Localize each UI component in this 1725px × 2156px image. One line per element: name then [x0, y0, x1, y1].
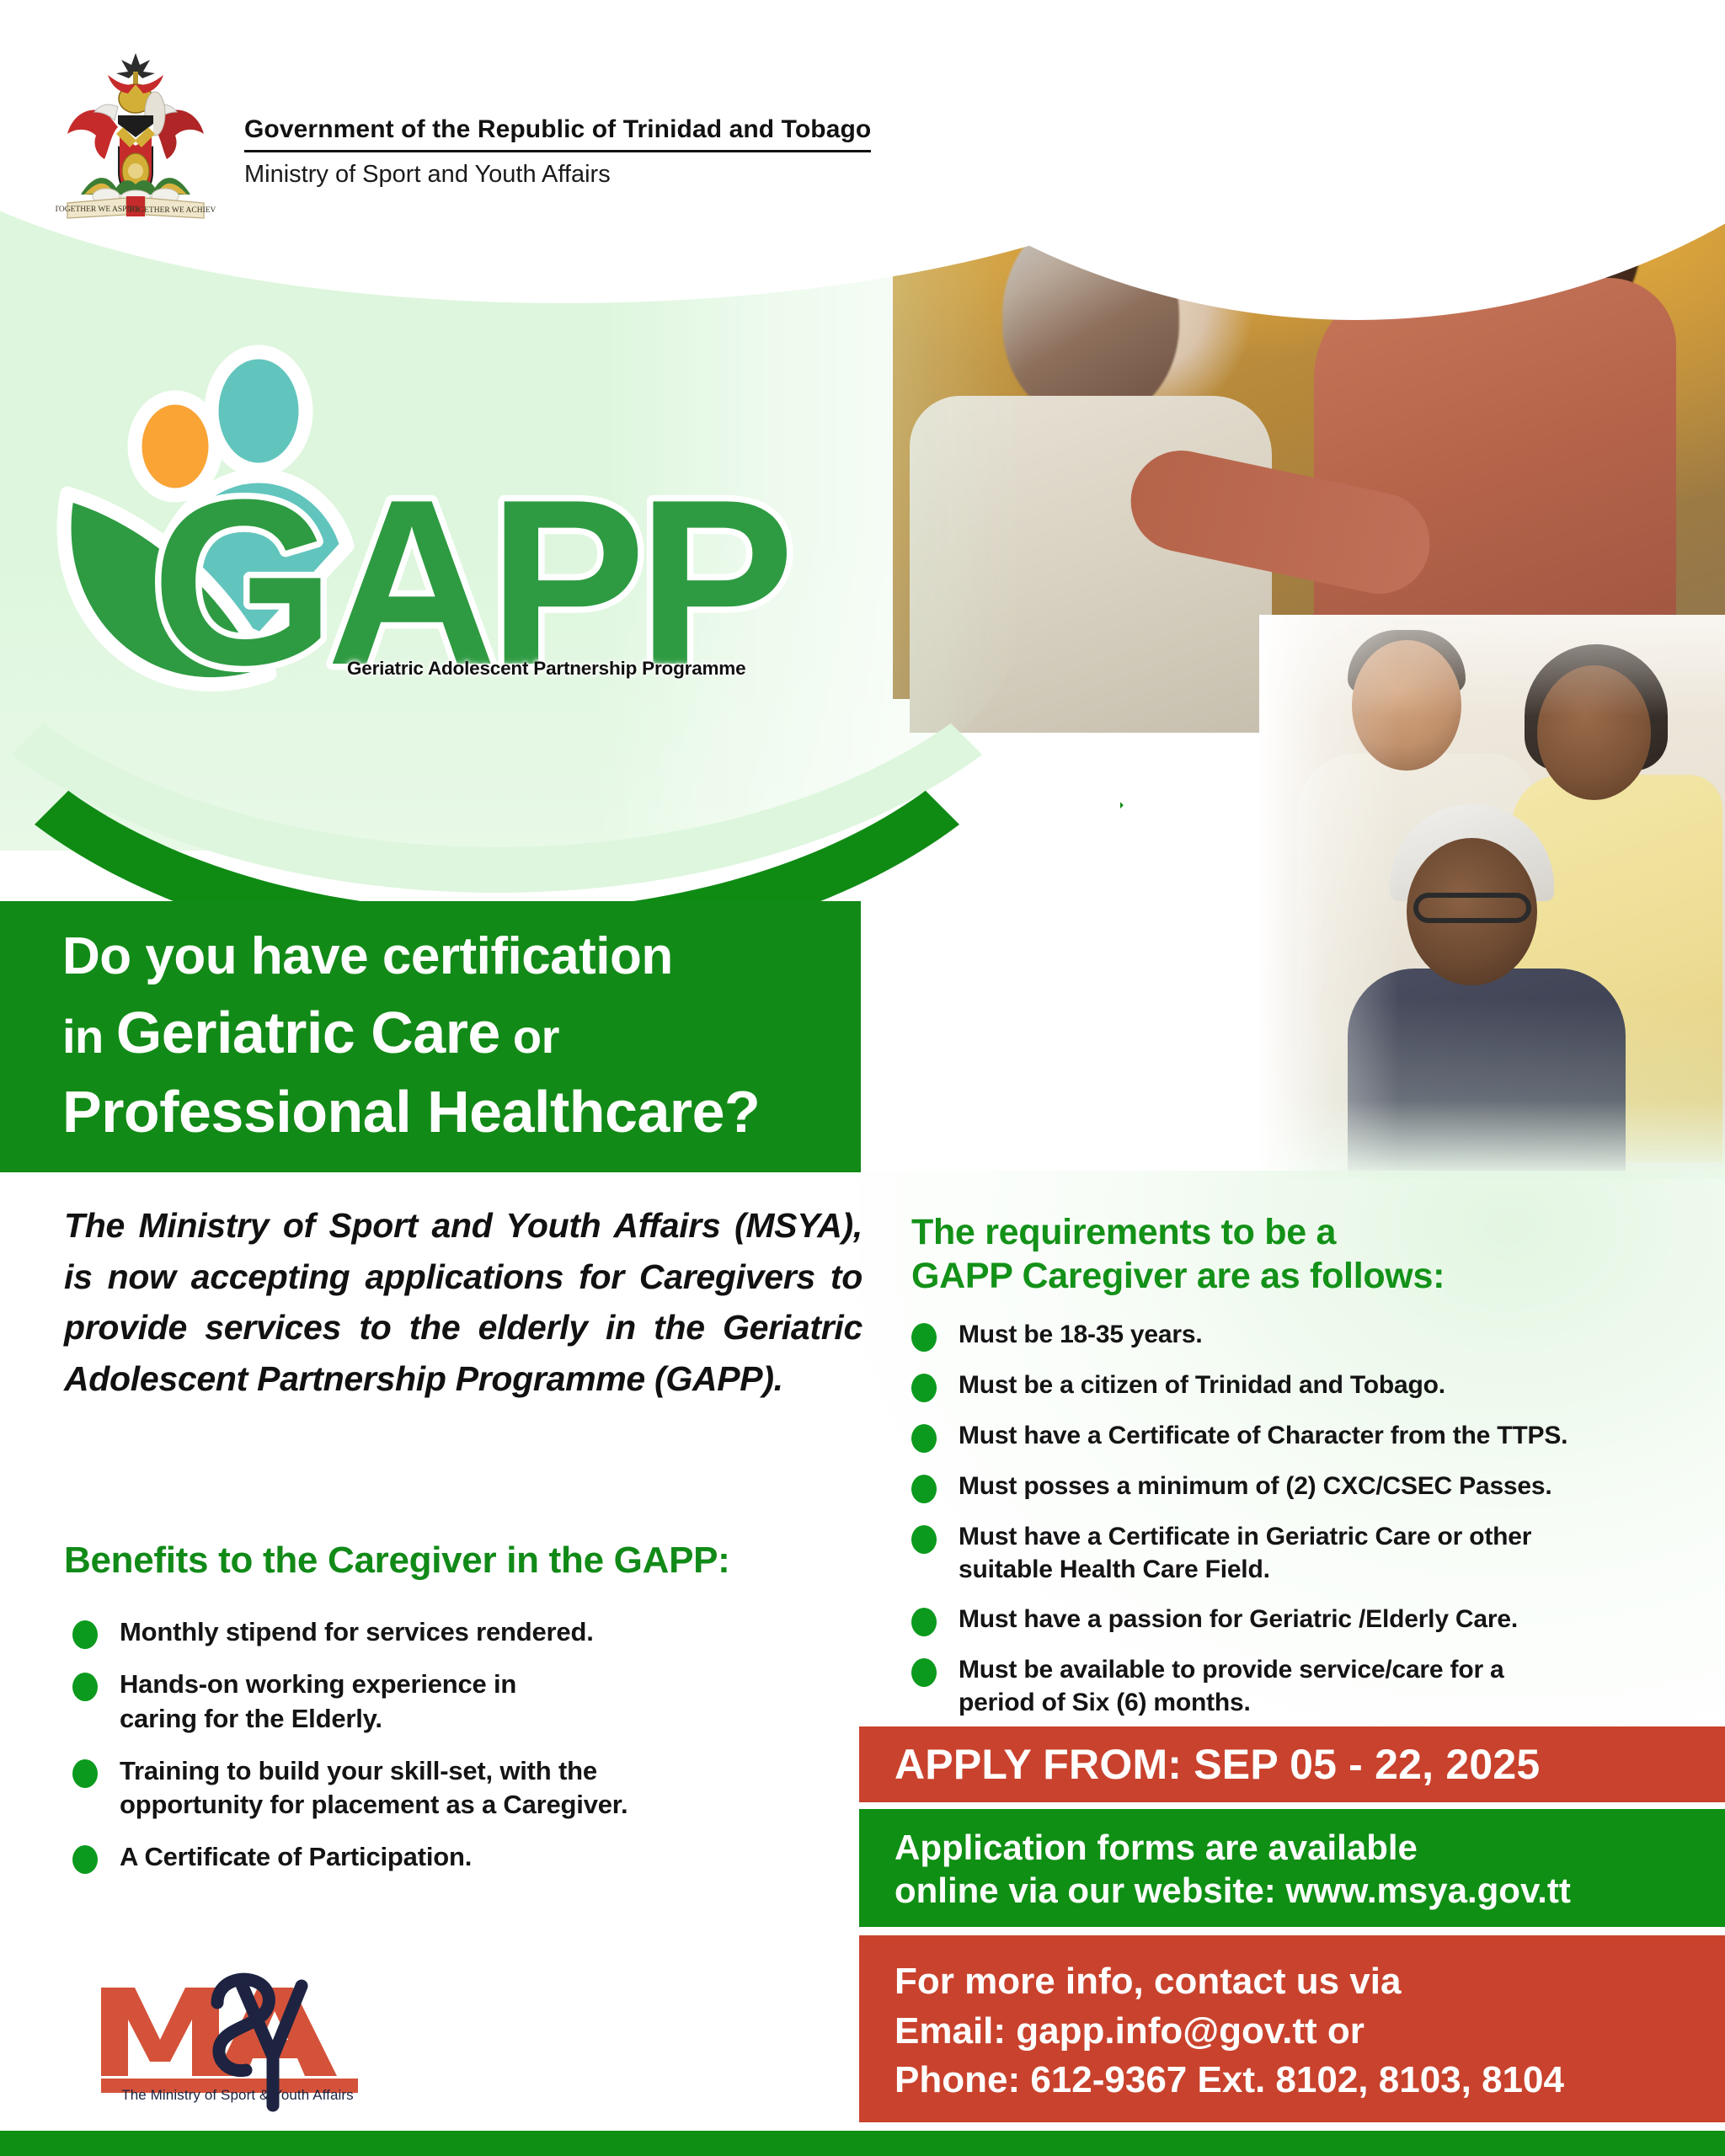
gapp-logo: GAPP Geriatric Adolescent Partnership Pr… [51, 337, 834, 707]
contact-banner: For more info, contact us via Email: gap… [859, 1935, 1725, 2122]
msya-caption: The Ministry of Sport & Youth Affairs [94, 2087, 381, 2104]
bullet-dot-icon [72, 1759, 98, 1788]
requirement-text: Must be a citizen of Trinidad and Tobago… [959, 1369, 1445, 1401]
requirement-text: Must have a Certificate in Geriatric Car… [959, 1520, 1531, 1586]
bullet-dot-icon [911, 1374, 937, 1402]
contact-phone-line[interactable]: Phone: 612-9367 Ext. 8102, 8103, 8104 [895, 2056, 1725, 2105]
list-item: Must be a citizen of Trinidad and Tobago… [911, 1369, 1695, 1402]
gapp-tagline: Geriatric Adolescent Partnership Program… [347, 658, 745, 680]
bullet-dot-icon [911, 1323, 937, 1352]
bullet-dot-icon [911, 1608, 937, 1636]
list-item: Must have a Certificate of Character fro… [911, 1419, 1695, 1453]
footer-bar [0, 2131, 1725, 2156]
website-link[interactable]: www.msya.gov.tt [1285, 1870, 1570, 1910]
bullet-dot-icon [911, 1475, 937, 1503]
benefits-list: Monthly stipend for services rendered. H… [72, 1615, 856, 1893]
trinidad-tobago-coat-of-arms-icon: TOGETHER WE ASPIRE TOGETHER WE ACHIEVE [56, 46, 216, 227]
contact-email-line[interactable]: Email: gapp.info@gov.tt or [895, 2007, 1725, 2057]
list-item: Must be 18-35 years. [911, 1318, 1695, 1352]
list-item: Monthly stipend for services rendered. [72, 1615, 856, 1649]
requirement-text: Must have a Certificate of Character fro… [959, 1419, 1567, 1452]
list-item: A Certificate of Participation. [72, 1840, 856, 1874]
benefit-text: Monthly stipend for services rendered. [120, 1615, 594, 1649]
list-item: Must be available to provide service/car… [911, 1653, 1695, 1719]
contact-line-1: For more info, contact us via [895, 1957, 1725, 2007]
headline-line-3: Professional Healthcare? [62, 1081, 815, 1142]
ministry-title: Ministry of Sport and Youth Affairs [244, 161, 871, 189]
headline-emphasis: Geriatric Care [116, 1000, 500, 1065]
requirements-heading: The requirements to be a GAPP Caregiver … [911, 1210, 1669, 1299]
government-title: Government of the Republic of Trinidad a… [244, 115, 871, 152]
list-item: Must have a Certificate in Geriatric Car… [911, 1520, 1695, 1586]
requirements-heading-line-2: GAPP Caregiver are as follows: [911, 1254, 1669, 1298]
headline-suffix: or [500, 1010, 559, 1063]
headline-line-1: Do you have certification [62, 930, 815, 984]
benefit-text: A Certificate of Participation. [120, 1840, 472, 1874]
benefit-text: Training to build your skill-set, with t… [120, 1754, 628, 1822]
forms-line-2: online via our website: www.msya.gov.tt [895, 1869, 1725, 1912]
headline-line-2: in Geriatric Care or [62, 1002, 815, 1063]
requirements-list: Must be 18-35 years. Must be a citizen o… [911, 1318, 1695, 1736]
bullet-dot-icon [72, 1673, 98, 1701]
headline-prefix: in [62, 1010, 116, 1063]
bullet-dot-icon [72, 1620, 98, 1649]
header-text-block: Government of the Republic of Trinidad a… [244, 46, 871, 189]
list-item: Must have a passion for Geriatric /Elder… [911, 1603, 1695, 1636]
bullet-dot-icon [911, 1658, 937, 1687]
requirement-text: Must be 18-35 years. [959, 1318, 1202, 1351]
requirement-text: Must be available to provide service/car… [959, 1653, 1504, 1719]
list-item: Hands-on working experience incaring for… [72, 1668, 856, 1736]
forms-line-1: Application forms are available [895, 1826, 1725, 1869]
requirement-text: Must posses a minimum of (2) CXC/CSEC Pa… [959, 1470, 1552, 1502]
svg-text:TOGETHER WE ACHIEVE: TOGETHER WE ACHIEVE [128, 206, 216, 215]
forms-prefix: online via our website: [895, 1870, 1285, 1910]
bullet-dot-icon [911, 1424, 937, 1453]
headline-banner: Do you have certification in Geriatric C… [0, 901, 861, 1172]
requirements-heading-line-1: The requirements to be a [911, 1210, 1669, 1254]
benefits-heading: Benefits to the Caregiver in the GAPP: [64, 1540, 864, 1582]
document-header: TOGETHER WE ASPIRE TOGETHER WE ACHIEVE G… [56, 46, 871, 227]
requirement-text: Must have a passion for Geriatric /Elder… [959, 1603, 1518, 1636]
apply-period-banner: APPLY FROM: SEP 05 - 22, 2025 [859, 1726, 1725, 1802]
application-forms-banner: Application forms are available online v… [859, 1809, 1725, 1927]
poster-canvas: TOGETHER WE ASPIRE TOGETHER WE ACHIEVE G… [0, 0, 1725, 2156]
bullet-dot-icon [911, 1525, 937, 1554]
list-item: Training to build your skill-set, with t… [72, 1754, 856, 1822]
intro-paragraph: The Ministry of Sport and Youth Affairs … [64, 1200, 862, 1405]
green-ribbon-decoration [1120, 522, 1474, 825]
list-item: Must posses a minimum of (2) CXC/CSEC Pa… [911, 1470, 1695, 1503]
bullet-dot-icon [72, 1845, 98, 1874]
benefit-text: Hands-on working experience incaring for… [120, 1668, 516, 1736]
